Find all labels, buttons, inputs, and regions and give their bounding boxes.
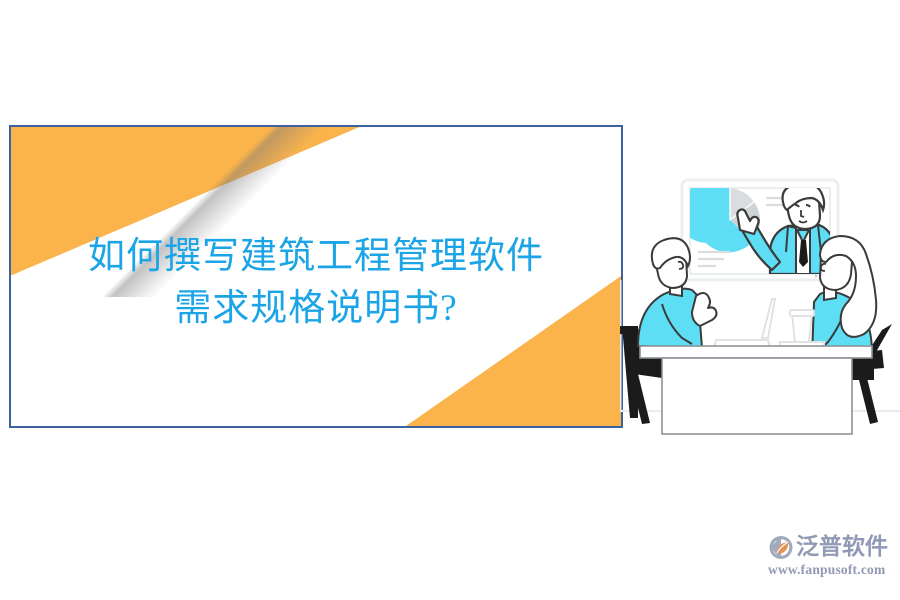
fanpu-logo-icon (768, 535, 794, 560)
page-title: 如何撰写建筑工程管理软件 需求规格说明书? (11, 231, 621, 335)
meeting-illustration-svg (620, 158, 900, 443)
watermark-brand-name: 泛普软件 (796, 535, 888, 560)
watermark-logo: 泛普软件 www.fanpusoft.com (768, 533, 894, 583)
conference-table (640, 346, 872, 434)
watermark-url: www.fanpusoft.com (768, 562, 894, 578)
desk-items (714, 299, 824, 348)
banner-canvas: 如何撰写建筑工程管理软件 需求规格说明书? (0, 0, 900, 600)
title-card: 如何撰写建筑工程管理软件 需求规格说明书? (9, 125, 623, 428)
laptop (714, 299, 775, 348)
page-title-line-2: 需求规格说明书? (11, 283, 621, 335)
meeting-illustration (620, 158, 900, 443)
page-title-line-1: 如何撰写建筑工程管理软件 (11, 231, 621, 283)
wall-screen (676, 179, 838, 280)
watermark-logo-row: 泛普软件 (768, 533, 894, 561)
